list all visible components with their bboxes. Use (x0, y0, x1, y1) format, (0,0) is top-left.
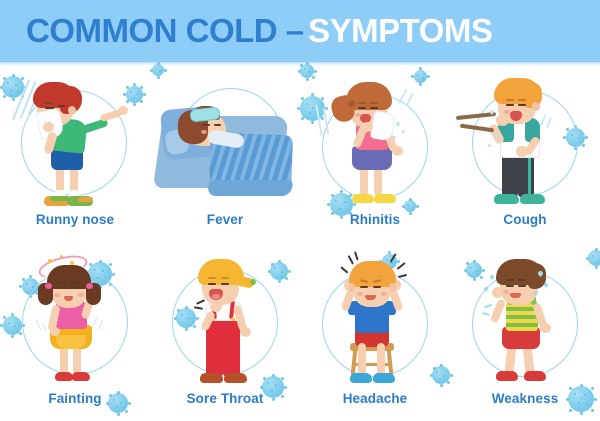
eye (214, 124, 221, 126)
eye (58, 105, 65, 107)
eye (71, 287, 79, 289)
eyebrow (518, 279, 526, 281)
eye (506, 104, 514, 106)
motion-lines (36, 319, 50, 339)
motion-lines (92, 317, 106, 337)
shoe (352, 194, 374, 203)
eye (370, 107, 378, 109)
fainting-illustration (0, 243, 150, 393)
shoe (496, 371, 518, 381)
tongue (212, 294, 220, 299)
cheek (54, 293, 60, 297)
eyebrow (221, 277, 229, 279)
ear (389, 283, 396, 292)
symptom-label: Headache (300, 391, 450, 406)
pain-line (354, 251, 358, 260)
weakness-illustration (450, 243, 600, 393)
symptom-label: Sore Throat (150, 391, 300, 406)
symptom-card-rhinitis[interactable]: Rhinitis (300, 64, 450, 242)
symptom-label: Fainting (0, 391, 150, 406)
symptom-card-runny-nose[interactable]: Runny nose (0, 64, 150, 242)
shoe (224, 373, 247, 383)
rhinitis-illustration (300, 64, 450, 214)
headache-illustration (300, 243, 450, 393)
pain-line (397, 262, 406, 269)
ear (68, 106, 76, 115)
fever-illustration (150, 64, 300, 214)
cheek (201, 130, 207, 134)
eye (202, 124, 210, 126)
pain-line (341, 266, 349, 273)
sore-throat-illustration (150, 243, 300, 393)
eye (58, 287, 66, 289)
cough-illustration (450, 64, 600, 214)
hand (210, 301, 222, 312)
hand (516, 146, 528, 157)
symptom-label: Weakness (450, 391, 600, 406)
symptom-label: Fever (150, 212, 300, 227)
shoe-accent (78, 197, 93, 202)
eyebrow (506, 99, 514, 101)
dizzy-star-icon (48, 259, 52, 263)
symptom-label: Cough (450, 212, 600, 227)
symptom-card-fainting[interactable]: Fainting (0, 243, 150, 421)
hand (540, 323, 551, 333)
cheek (503, 290, 509, 294)
shoe (55, 372, 73, 381)
cheek (357, 292, 363, 296)
shoe (494, 194, 519, 204)
leg (377, 343, 385, 375)
symptom-card-headache[interactable]: Headache (300, 243, 450, 421)
shoe (72, 372, 90, 381)
eyebrow (518, 99, 526, 101)
eye (360, 286, 368, 288)
ear (348, 283, 355, 292)
poster-title: COMMON COLD – SYMPTOMS (0, 12, 492, 50)
shoe (374, 194, 396, 203)
mouth (365, 295, 376, 300)
eyebrow (58, 281, 66, 283)
eye (518, 285, 526, 287)
hand (392, 146, 403, 156)
eye (373, 286, 381, 288)
poster-title-primary: COMMON COLD – (26, 12, 304, 49)
leg (73, 345, 81, 375)
cheek (381, 292, 387, 296)
hand (50, 327, 60, 336)
ear (532, 102, 540, 111)
eyebrow (71, 281, 79, 283)
eye (221, 283, 229, 285)
hair (349, 261, 396, 287)
eyebrow (506, 279, 514, 281)
hand (43, 122, 54, 132)
cheek (355, 113, 361, 117)
symptom-card-weakness[interactable]: Weakness (450, 243, 600, 421)
motion-lines (400, 88, 420, 118)
mouth (510, 293, 521, 298)
pain-line (390, 253, 397, 262)
symptom-card-sore-throat[interactable]: Sore Throat (150, 243, 300, 421)
shoe (350, 373, 372, 383)
infographic-poster: COMMON COLD – SYMPTOMS (0, 0, 600, 421)
hair (47, 265, 91, 289)
symptom-label: Rhinitis (300, 212, 450, 227)
hand (118, 106, 128, 115)
poster-header-banner: COMMON COLD – SYMPTOMS (0, 0, 600, 62)
eye (506, 285, 514, 287)
hair-tie (86, 283, 93, 289)
hand (496, 114, 509, 126)
skirt-fold (56, 335, 86, 349)
pants-stripe (528, 152, 531, 196)
shoe (520, 194, 545, 204)
eye (518, 104, 526, 106)
hand (240, 327, 251, 337)
hair-tie (348, 100, 355, 107)
overall-button (231, 317, 235, 321)
pain-line (348, 255, 354, 265)
eye (208, 283, 216, 285)
leg (358, 343, 366, 375)
hair-tie (250, 279, 256, 285)
shoe (200, 373, 223, 383)
symptom-grid: Runny nose (0, 64, 600, 421)
eyebrow (358, 102, 366, 104)
cheek (504, 110, 510, 114)
shoe (373, 373, 395, 383)
cheek (78, 293, 84, 297)
leg (60, 345, 68, 375)
hand (362, 122, 373, 132)
poster-title-secondary: SYMPTOMS (308, 12, 492, 49)
shoe (524, 371, 546, 381)
bed-foot (206, 180, 294, 196)
hair-tie (45, 283, 52, 289)
pain-line (398, 274, 407, 278)
eyebrow (45, 102, 53, 104)
eyebrow (208, 277, 216, 279)
eyebrow (370, 102, 378, 104)
symptom-label: Runny nose (0, 212, 150, 227)
symptom-card-cough[interactable]: Cough (450, 64, 600, 242)
runny-nose-illustration (0, 64, 150, 214)
sweat-drop (489, 274, 495, 280)
dizzy-star-icon (60, 255, 63, 258)
motion-lines (540, 114, 558, 136)
eye (358, 107, 366, 109)
symptom-card-fever[interactable]: Fever (150, 64, 300, 242)
